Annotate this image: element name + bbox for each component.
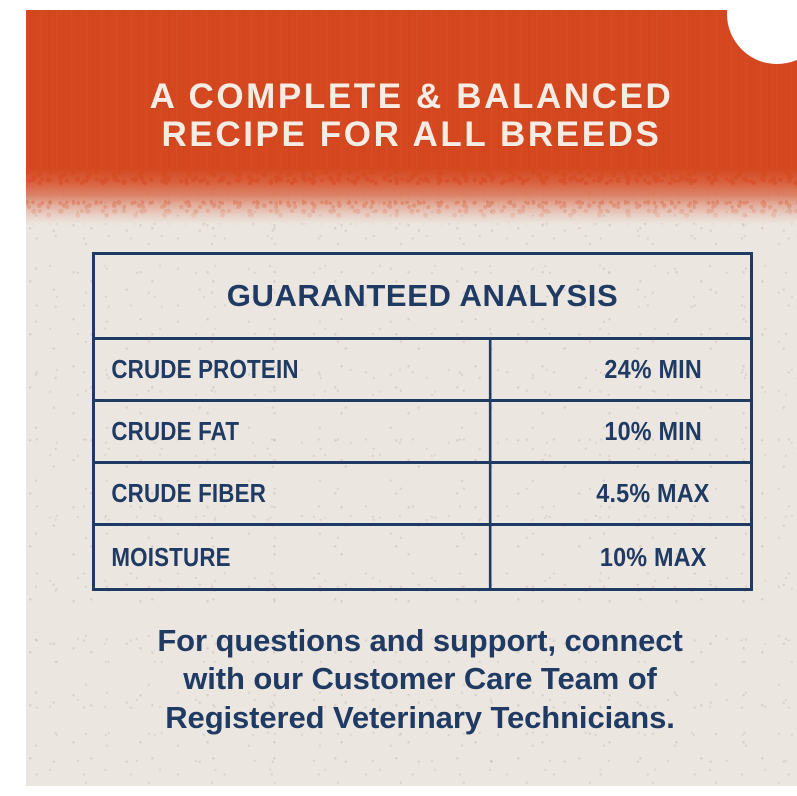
guaranteed-analysis-title: GUARANTEED ANALYSIS — [95, 255, 750, 340]
table-row: CRUDE FIBER 4.5% MAX — [95, 464, 750, 526]
nutrient-value-cell: 24% MIN — [556, 340, 750, 399]
guaranteed-analysis-table: GUARANTEED ANALYSIS CRUDE PROTEIN 24% MI… — [92, 252, 753, 591]
customer-support-copy: For questions and support, connect with … — [82, 622, 758, 737]
table-row: CRUDE PROTEIN 24% MIN — [95, 340, 750, 402]
nutrient-value-text: 4.5% MAX — [596, 478, 709, 509]
table-row: CRUDE FAT 10% MIN — [95, 402, 750, 464]
nutrient-name-cell: CRUDE PROTEIN — [95, 340, 491, 399]
nutrient-name-cell: CRUDE FIBER — [95, 464, 491, 523]
banner-torn-edge-speckle — [26, 166, 797, 228]
nutrient-value-text: 24% MIN — [604, 354, 701, 385]
nutrient-name-cell: CRUDE FAT — [95, 402, 491, 461]
nutrient-value-cell: 4.5% MAX — [556, 464, 750, 523]
nutrient-name-cell: MOISTURE — [95, 526, 491, 588]
table-row: MOISTURE 10% MAX — [95, 526, 750, 588]
banner-headline: A COMPLETE & BALANCED RECIPE FOR ALL BRE… — [26, 78, 797, 154]
nutrient-value-text: 10% MAX — [600, 542, 707, 573]
product-label-artwork: A COMPLETE & BALANCED RECIPE FOR ALL BRE… — [26, 10, 797, 786]
nutrient-value-text: 10% MIN — [604, 416, 701, 447]
nutrient-value-cell: 10% MIN — [556, 402, 750, 461]
nutrient-value-cell: 10% MAX — [556, 526, 750, 588]
product-label-panel: A COMPLETE & BALANCED RECIPE FOR ALL BRE… — [0, 0, 797, 796]
